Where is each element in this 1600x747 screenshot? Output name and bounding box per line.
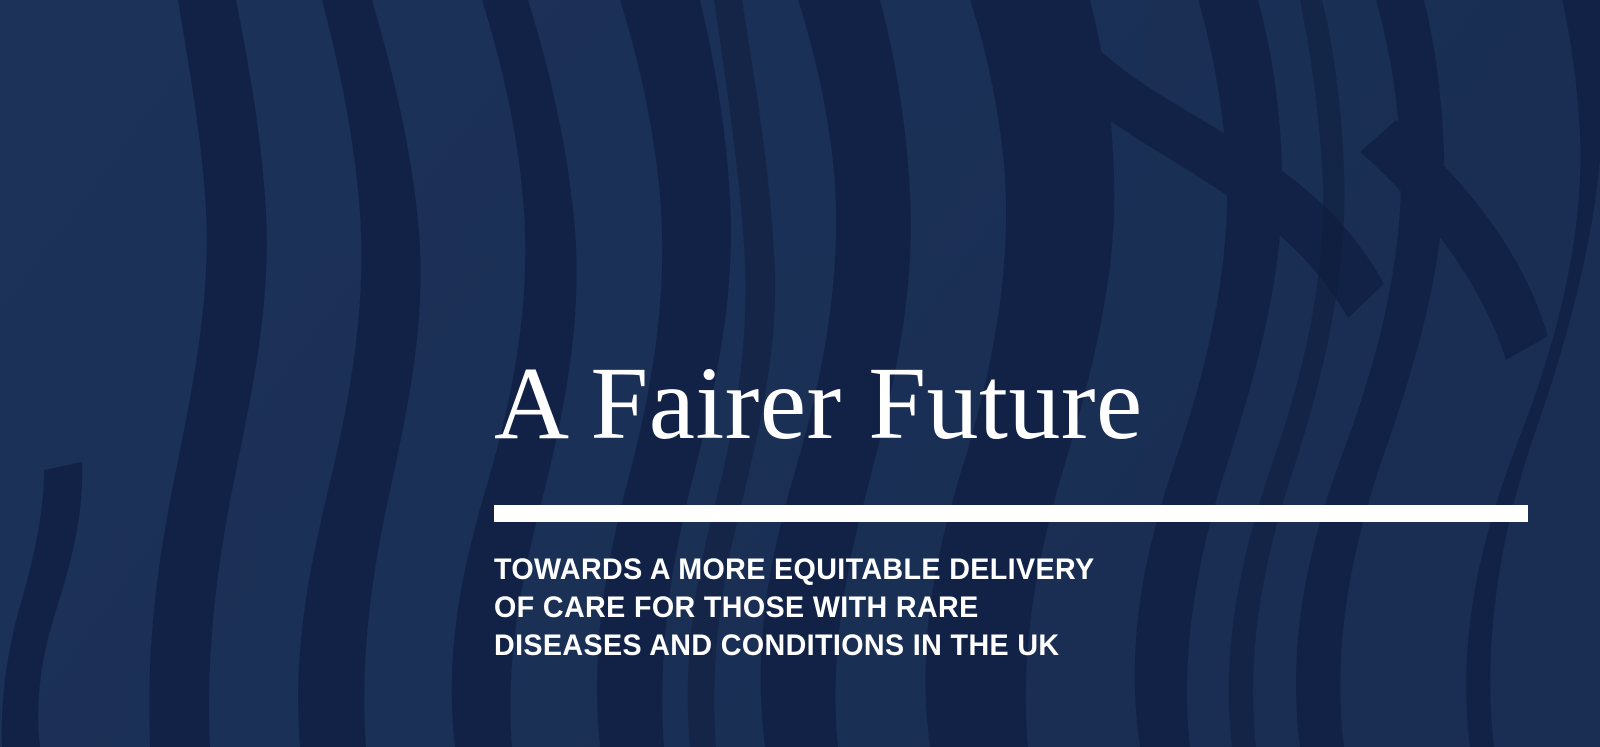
subtitle-line-2: OF CARE FOR THOSE WITH RARE: [494, 589, 1354, 627]
page-subtitle: TOWARDS A MORE EQUITABLE DELIVERY OF CAR…: [494, 551, 1394, 665]
subtitle-line-1: TOWARDS A MORE EQUITABLE DELIVERY: [494, 551, 1354, 589]
title-divider-rule: [494, 505, 1528, 522]
subtitle-line-3: DISEASES AND CONDITIONS IN THE UK: [494, 627, 1354, 665]
cover-content: A Fairer Future TOWARDS A MORE EQUITABLE…: [0, 0, 1600, 747]
page-title: A Fairer Future: [494, 352, 1143, 456]
cover-page: A Fairer Future TOWARDS A MORE EQUITABLE…: [0, 0, 1600, 747]
